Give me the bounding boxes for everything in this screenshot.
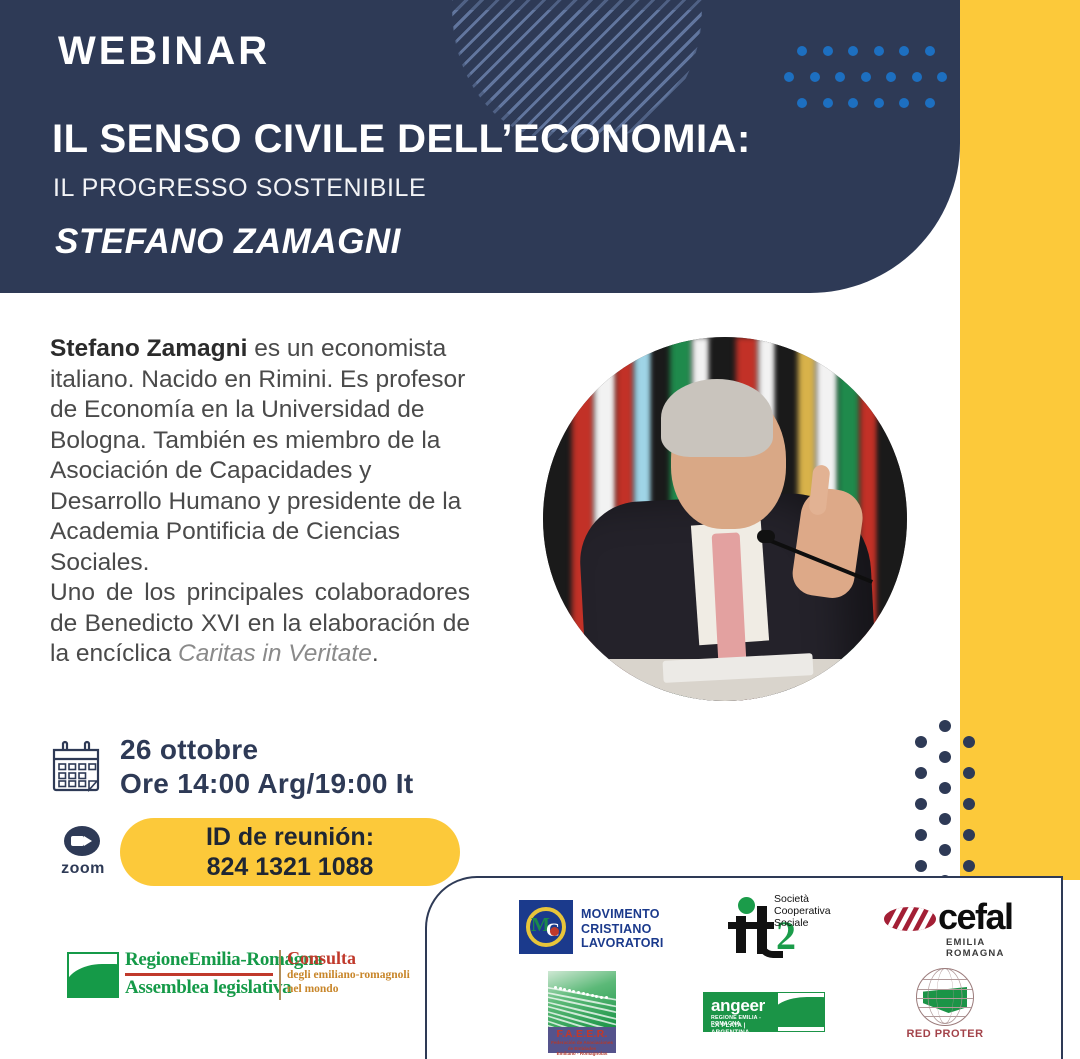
faeer-acronym: F.A.E.E.R. [548, 1027, 616, 1040]
speaker-portrait [543, 337, 907, 701]
speaker-name-heading: STEFANO ZAMAGNI [55, 222, 401, 262]
regione-rule [125, 973, 273, 976]
angeer-sub2: LA PLATA | ARGENTINA [711, 1022, 778, 1036]
mcl-wordmark: MOVIMENTO CRISTIANO LAVORATORI [581, 907, 664, 951]
bio-paragraph-1: Stefano Zamagni es un economista italian… [50, 334, 470, 578]
bio-paragraph-2-tail: . [372, 640, 379, 667]
bio-speaker-name: Stefano Zamagni [50, 335, 247, 362]
mcl-line1: MOVIMENTO [581, 907, 664, 922]
meeting-id-label: ID de reunión: [206, 822, 374, 852]
it2-line1: Società [774, 893, 831, 905]
it2-letter-t-bar [728, 922, 774, 929]
event-date-block: 26 ottobre Ore 14:00 Arg/19:00 It [120, 733, 413, 801]
mcl-red-dot-icon [550, 927, 559, 936]
logo-mcl: M C MOVIMENTO CRISTIANO LAVORATORI [519, 900, 659, 958]
regione-line2: Assemblea legislativa [125, 977, 291, 999]
event-time: Ore 14:00 Arg/19:00 It [120, 767, 413, 801]
faeer-sub2: Emiliano - Romagnolas [548, 1051, 616, 1057]
mcl-badge-icon: M C [519, 900, 573, 954]
logo-cefal: cefal EMILIA ROMAGNA [884, 900, 1029, 952]
it2-line2: Cooperativa [774, 905, 831, 917]
logo-it2-cooperativa: 2 Società Cooperativa Sociale [726, 896, 846, 958]
event-date: 26 ottobre [120, 733, 413, 767]
kicker-webinar: WEBINAR [58, 29, 270, 74]
bio-encyclical-title: Caritas in Veritate [178, 640, 372, 667]
cefal-mark-icon [884, 907, 936, 931]
portrait-hair [661, 379, 773, 457]
faeer-sub1: Federación de Asociaciones de Entidades [548, 1040, 616, 1051]
mcl-line3: LAVORATORI [581, 936, 664, 951]
it2-wordmark: Società Cooperativa Sociale [774, 893, 831, 929]
cefal-subtitle: EMILIA ROMAGNA [946, 937, 1029, 959]
regione-divider [279, 950, 281, 1000]
it2-green-dot-icon [738, 897, 755, 914]
calendar-icon [50, 740, 102, 792]
angeer-text-area: angeer REGIONE EMILIA - ROMAGNA LA PLATA… [704, 993, 778, 1031]
angeer-flag-icon [778, 993, 824, 1031]
red-proter-wordmark: RED PROTER [905, 1028, 985, 1040]
navy-dot-grid-decoration-icon [915, 710, 985, 880]
webinar-poster: WEBINAR IL SENSO CIVILE DELL’ECONOMIA: I… [0, 0, 1080, 1059]
zoom-logo: zoom [56, 826, 110, 882]
microphone-head-icon [757, 530, 775, 543]
speaker-bio: Stefano Zamagni es un economista italian… [50, 334, 470, 670]
angeer-wordmark: angeer [711, 996, 765, 1016]
mcl-line2: CRISTIANO [581, 922, 664, 937]
consulta-line2: degli emiliano-romagnoli [287, 969, 410, 981]
meeting-id-badge[interactable]: ID de reunión: 824 1321 1088 [120, 818, 460, 886]
angeer-box: angeer REGIONE EMILIA - ROMAGNA LA PLATA… [703, 992, 825, 1032]
faeer-graphic-icon [548, 971, 616, 1027]
faeer-nameplate: F.A.E.E.R. Federación de Asociaciones de… [548, 1027, 616, 1053]
consulta-line1: Consulta [287, 948, 356, 969]
logo-faeer: F.A.E.E.R. Federación de Asociaciones de… [548, 971, 616, 1053]
blue-dot-grid-decoration-icon [793, 46, 953, 114]
bio-paragraph-2: Uno de los principales colaboradores de … [50, 578, 470, 670]
logo-angeer: angeer REGIONE EMILIA - ROMAGNA LA PLATA… [703, 992, 825, 1032]
page-subtitle: IL PROGRESSO SOSTENIBILE [53, 174, 426, 203]
logo-regione-emilia-romagna: RegioneEmilia-Romagna Assemblea legislat… [67, 948, 407, 1008]
cefal-wordmark: cefal [938, 895, 1013, 939]
bio-paragraph-1-text: es un economista italiano. Nacido en Rim… [50, 335, 465, 576]
globe-icon [916, 968, 974, 1026]
video-camera-icon [64, 826, 100, 856]
zoom-wordmark: zoom [56, 860, 110, 878]
regione-flag-icon [67, 952, 119, 998]
meeting-id-value: 824 1321 1088 [207, 852, 374, 882]
consulta-line3: nel mondo [287, 983, 338, 995]
logo-red-proter: RED PROTER [905, 968, 985, 1048]
it2-line3: Sociale [774, 917, 831, 929]
page-title: IL SENSO CIVILE DELL’ECONOMIA: [52, 117, 751, 162]
